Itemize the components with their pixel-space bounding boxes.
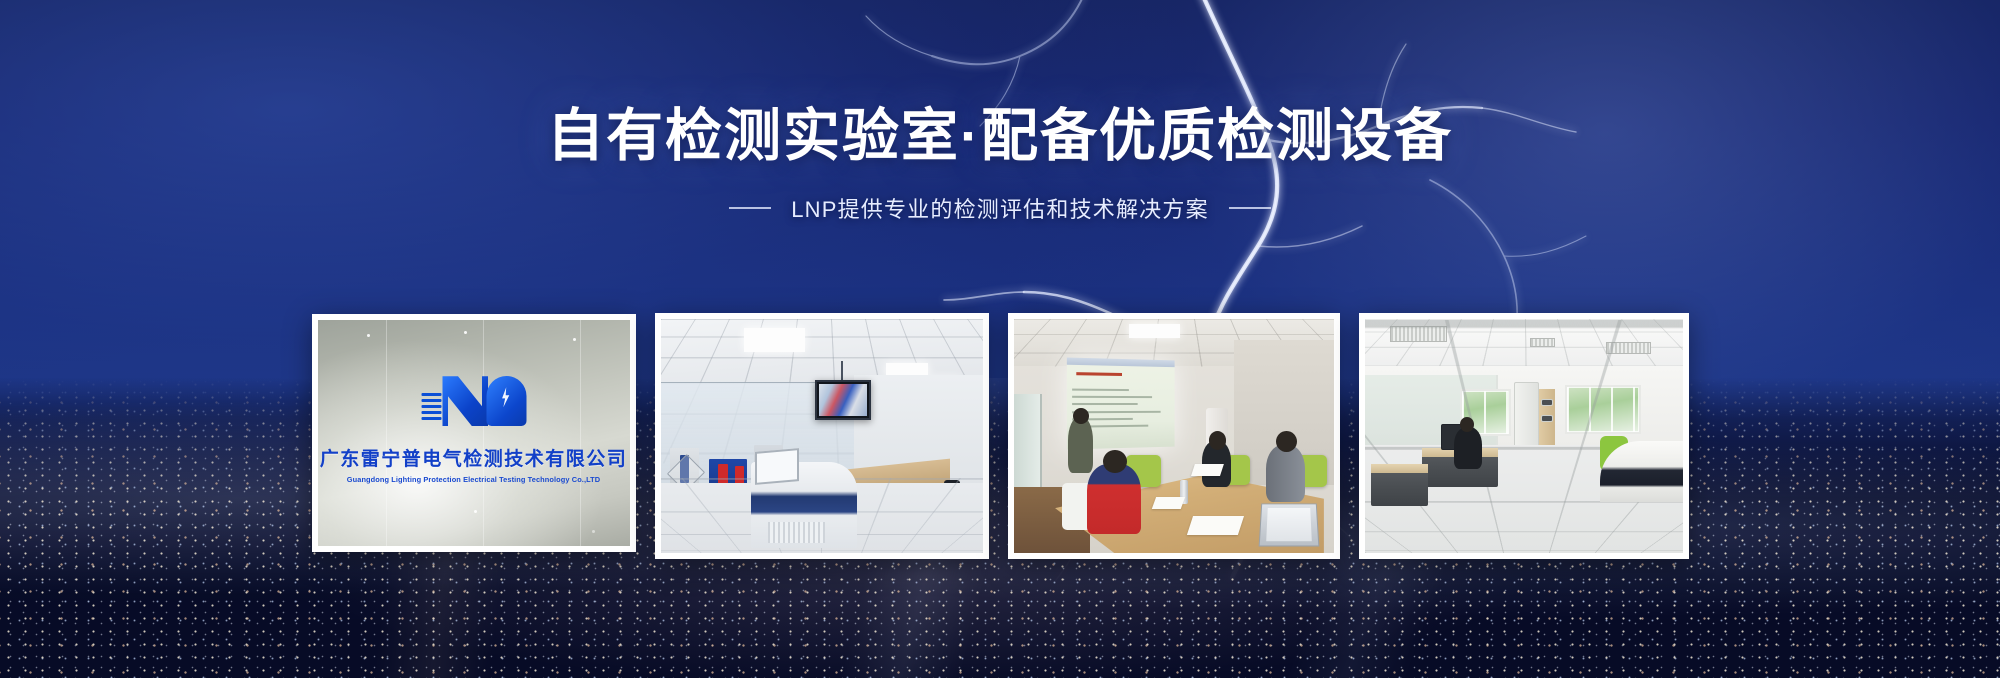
photo-gallery: 广东雷宁普电气检测技术有限公司 Guangdong Lighting Prote…	[0, 313, 2000, 559]
seated-staff	[1454, 427, 1483, 469]
lnp-logo-icon	[421, 374, 526, 426]
left-rule	[729, 207, 771, 209]
company-name-en: Guangdong Lighting Protection Electrical…	[347, 475, 600, 484]
attendee-right	[1266, 445, 1304, 501]
gallery-item-meeting-room[interactable]	[1008, 313, 1340, 559]
company-sign-photo: 广东雷宁普电气检测技术有限公司 Guangdong Lighting Prote…	[318, 320, 630, 546]
gallery-item-company-sign[interactable]: 广东雷宁普电气检测技术有限公司 Guangdong Lighting Prote…	[312, 314, 636, 552]
banner-hero: 自有检测实验室·配备优质检测设备 LNP提供专业的检测评估和技术解决方案	[0, 0, 2000, 678]
gallery-item-office[interactable]	[1359, 313, 1689, 559]
office-area-photo	[1365, 319, 1683, 553]
console-monitor	[755, 448, 799, 485]
presenter	[1068, 417, 1094, 473]
subtitle-row: LNP提供专业的检测评估和技术解决方案	[0, 192, 2000, 224]
attendee-red	[1087, 464, 1141, 534]
meeting-room-photo	[1014, 319, 1334, 553]
page-title: 自有检测实验室·配备优质检测设备	[0, 104, 2000, 170]
laptop	[1259, 503, 1319, 547]
headline-block: 自有检测实验室·配备优质检测设备 LNP提供专业的检测评估和技术解决方案	[0, 104, 2000, 224]
wall-display	[815, 380, 871, 420]
gallery-item-laboratory[interactable]	[655, 313, 989, 559]
company-name-cn: 广东雷宁普电气检测技术有限公司	[320, 444, 628, 471]
high-voltage-lab-photo	[661, 319, 983, 553]
right-rule	[1229, 207, 1271, 209]
page-subtitle: LNP提供专业的检测评估和技术解决方案	[791, 192, 1209, 224]
